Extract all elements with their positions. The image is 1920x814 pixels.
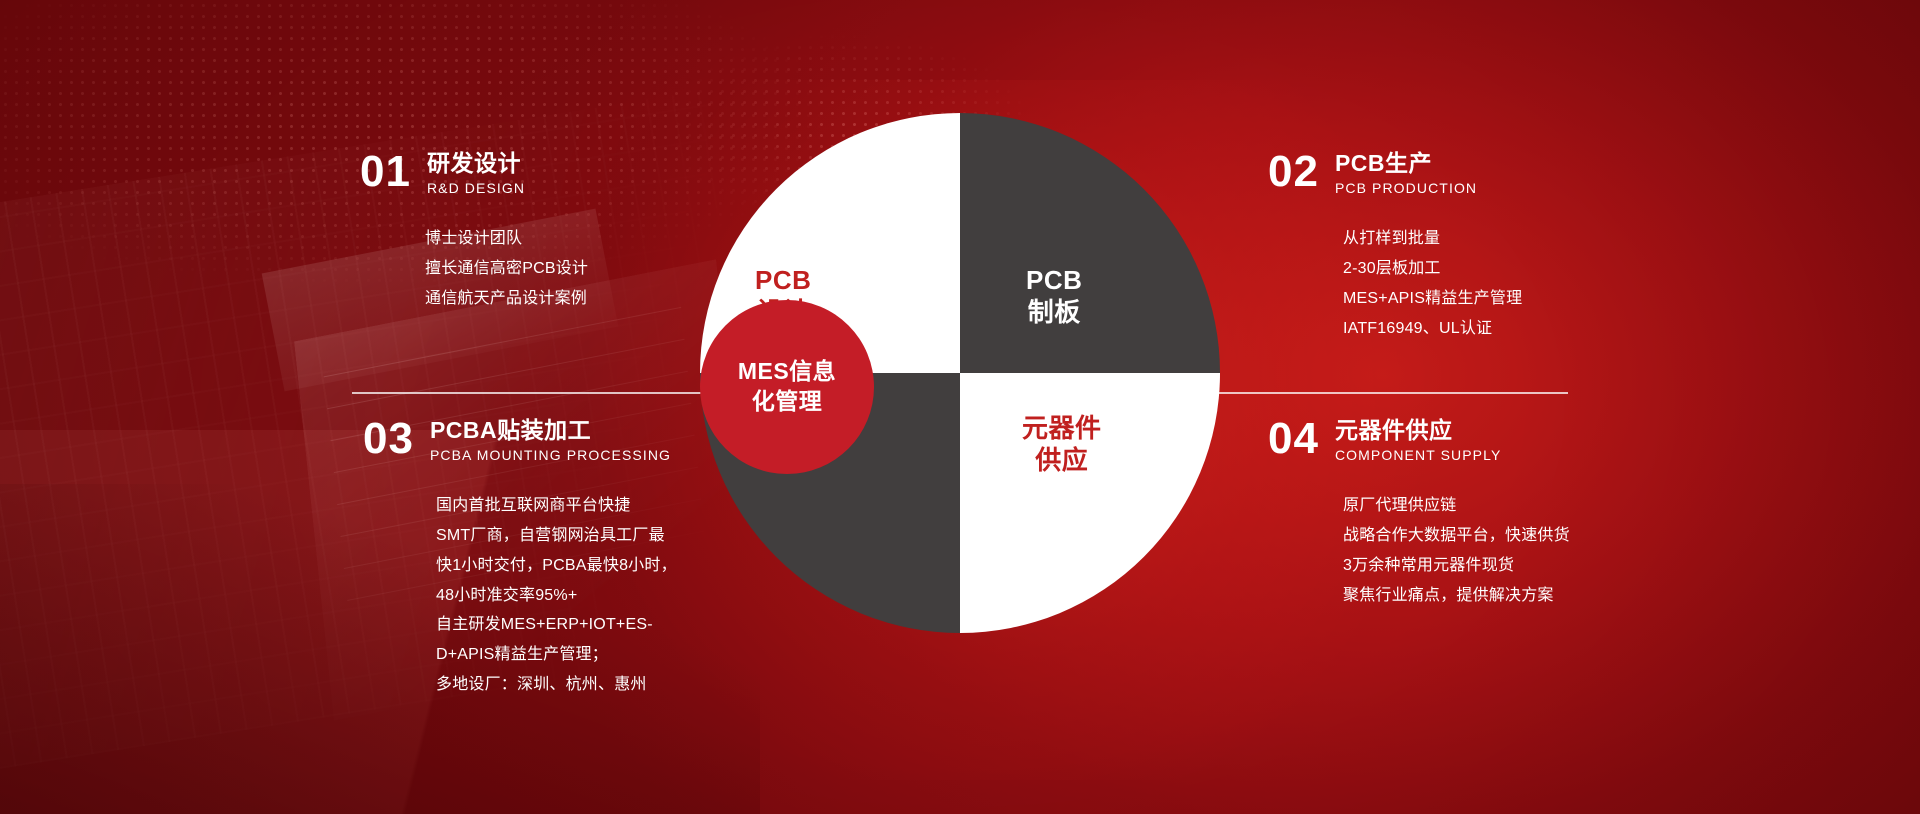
info-block-03-description: 国内首批互联网商平台快捷 SMT厂商，自营钢网治具工厂最 快1小时交付，PCBA… (436, 491, 686, 699)
info-block-02-header: 02 PCB生产 PCB PRODUCTION (1268, 148, 1522, 196)
connector-line-right (1218, 392, 1568, 394)
quadrant-label-component-supply: 元器件 供应 (1022, 413, 1102, 476)
info-block-02-title-cn: PCB生产 (1335, 150, 1477, 176)
info-block-02: 02 PCB生产 PCB PRODUCTION 从打样到批量 2-30层板加工 … (1268, 148, 1522, 343)
info-block-01: 01 研发设计 R&D DESIGN 博士设计团队 擅长通信高密PCB设计 通信… (360, 148, 588, 314)
info-block-04-description: 原厂代理供应链 战略合作大数据平台，快速供货 3万余种常用元器件现货 聚焦行业痛… (1343, 491, 1570, 610)
quadrant-pcb-production[interactable] (960, 113, 1220, 373)
info-block-04-title-cn: 元器件供应 (1335, 417, 1501, 443)
diagram-hub-label: MES信息 化管理 (738, 357, 836, 417)
quadrant-component-supply[interactable] (960, 373, 1220, 633)
info-block-03-number: 03 (363, 415, 414, 461)
info-block-03-title-cn: PCBA贴装加工 (430, 417, 671, 443)
info-block-01-number: 01 (360, 148, 411, 194)
diagram-hub[interactable]: MES信息 化管理 (700, 300, 874, 474)
info-block-03-header: 03 PCBA贴装加工 PCBA MOUNTING PROCESSING (363, 415, 686, 463)
info-block-01-description: 博士设计团队 擅长通信高密PCB设计 通信航天产品设计案例 (425, 224, 588, 313)
info-block-01-title-en: R&D DESIGN (427, 180, 525, 196)
info-block-01-header: 01 研发设计 R&D DESIGN (360, 148, 588, 196)
info-block-01-title-cn: 研发设计 (427, 150, 525, 176)
info-block-02-number: 02 (1268, 148, 1319, 194)
quadrant-label-pcb-production: PCB 制板 (1026, 265, 1082, 328)
info-block-03: 03 PCBA贴装加工 PCBA MOUNTING PROCESSING 国内首… (363, 415, 686, 700)
info-block-02-title-en: PCB PRODUCTION (1335, 180, 1477, 196)
info-block-03-title-en: PCBA MOUNTING PROCESSING (430, 447, 671, 463)
connector-line-left (352, 392, 702, 394)
info-block-04-number: 04 (1268, 415, 1319, 461)
info-block-04: 04 元器件供应 COMPONENT SUPPLY 原厂代理供应链 战略合作大数… (1268, 415, 1570, 610)
info-block-02-description: 从打样到批量 2-30层板加工 MES+APIS精益生产管理 IATF16949… (1343, 224, 1522, 343)
info-block-04-title-en: COMPONENT SUPPLY (1335, 447, 1501, 463)
info-block-04-header: 04 元器件供应 COMPONENT SUPPLY (1268, 415, 1570, 463)
